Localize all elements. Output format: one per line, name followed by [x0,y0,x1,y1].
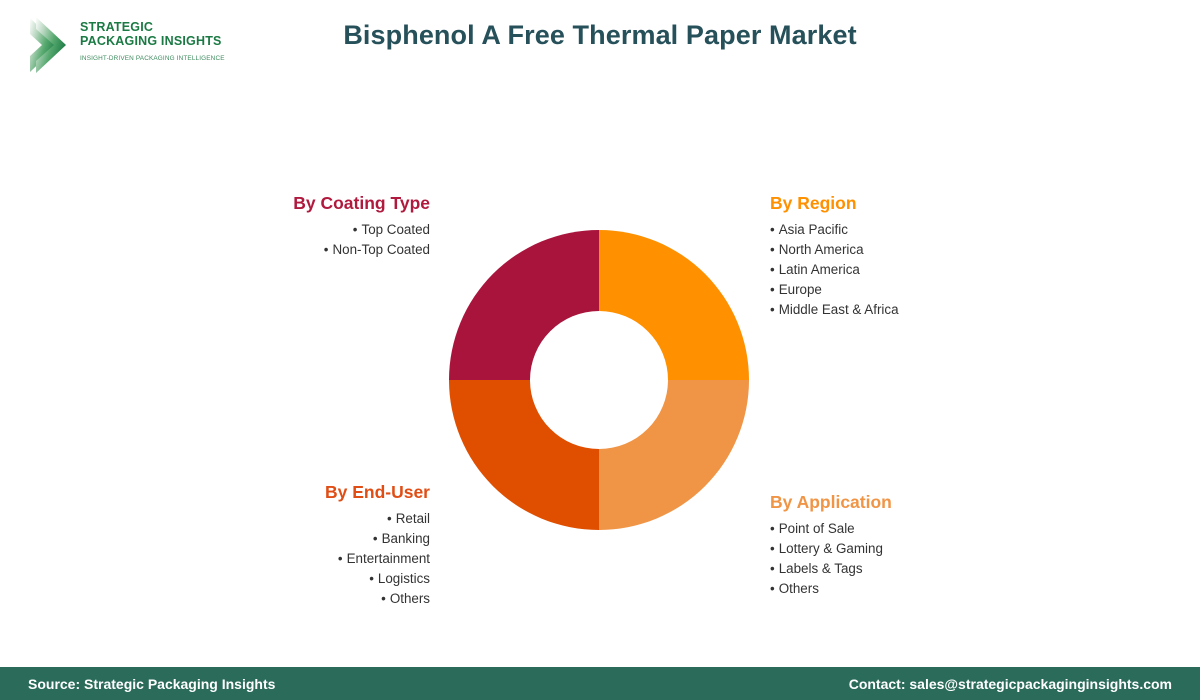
donut-chart-svg [448,229,750,531]
list-item-label: North America [779,242,864,257]
list-item: •Middle East & Africa [770,300,1100,320]
list-item: •Latin America [770,260,1100,280]
list-item-label: Latin America [779,262,860,277]
list-item: •Banking [130,529,430,549]
segment-title-coating-type: By Coating Type [130,193,430,214]
segment-title-application: By Application [770,492,1100,513]
list-item-label: Top Coated [362,222,431,237]
bullet-icon: • [770,262,775,277]
segment-title-region: By Region [770,193,1100,214]
segment-list-coating-type: •Top Coated •Non-Top Coated [130,220,430,260]
footer-source: Source: Strategic Packaging Insights [28,676,275,692]
list-item: •Entertainment [130,549,430,569]
list-item: •Asia Pacific [770,220,1100,240]
bullet-icon: • [387,511,392,526]
list-item: •Top Coated [130,220,430,240]
segment-by-application: By Application •Point of Sale •Lottery &… [770,492,1100,599]
segment-list-region: •Asia Pacific •North America •Latin Amer… [770,220,1100,320]
bullet-icon: • [353,222,358,237]
list-item: •Labels & Tags [770,559,1100,579]
list-item-label: Entertainment [347,551,430,566]
list-item-label: Others [390,591,430,606]
bullet-icon: • [770,302,775,317]
list-item-label: Retail [396,511,430,526]
list-item: •Europe [770,280,1100,300]
list-item-label: Middle East & Africa [779,302,899,317]
segment-by-end-user: By End-User •Retail •Banking •Entertainm… [130,482,430,609]
list-item-label: Logistics [378,571,430,586]
footer-bar: Source: Strategic Packaging Insights Con… [0,667,1200,700]
list-item-label: Others [779,581,819,596]
segment-list-application: •Point of Sale •Lottery & Gaming •Labels… [770,519,1100,599]
list-item: •Non-Top Coated [130,240,430,260]
bullet-icon: • [373,531,378,546]
list-item-label: Point of Sale [779,521,855,536]
footer-contact[interactable]: Contact: sales@strategicpackaginginsight… [849,676,1172,692]
segment-by-region: By Region •Asia Pacific •North America •… [770,193,1100,320]
header: STRATEGIC PACKAGING INSIGHTS INSIGHT-DRI… [0,0,1200,95]
segment-by-coating-type: By Coating Type •Top Coated •Non-Top Coa… [130,193,430,260]
bullet-icon: • [770,541,775,556]
list-item: •Retail [130,509,430,529]
bullet-icon: • [770,222,775,237]
list-item-label: Banking [382,531,430,546]
bullet-icon: • [770,521,775,536]
bullet-icon: • [381,591,386,606]
bullet-icon: • [324,242,329,257]
segment-title-end-user: By End-User [130,482,430,503]
bullet-icon: • [369,571,374,586]
bullet-icon: • [770,242,775,257]
list-item: •Others [130,589,430,609]
page-title: Bisphenol A Free Thermal Paper Market [0,20,1200,51]
list-item-label: Non-Top Coated [332,242,430,257]
list-item: •Lottery & Gaming [770,539,1100,559]
logo-tagline: INSIGHT-DRIVEN PACKAGING INTELLIGENCE [80,55,230,62]
bullet-icon: • [770,561,775,576]
list-item-label: Europe [779,282,822,297]
list-item: •Point of Sale [770,519,1100,539]
donut-center-hole [530,311,668,449]
list-item-label: Lottery & Gaming [779,541,883,556]
bullet-icon: • [770,581,775,596]
list-item-label: Asia Pacific [779,222,848,237]
list-item: •Logistics [130,569,430,589]
list-item: •North America [770,240,1100,260]
segment-list-end-user: •Retail •Banking •Entertainment •Logisti… [130,509,430,609]
donut-chart [448,229,750,531]
list-item-label: Labels & Tags [779,561,863,576]
bullet-icon: • [338,551,343,566]
list-item: •Others [770,579,1100,599]
bullet-icon: • [770,282,775,297]
